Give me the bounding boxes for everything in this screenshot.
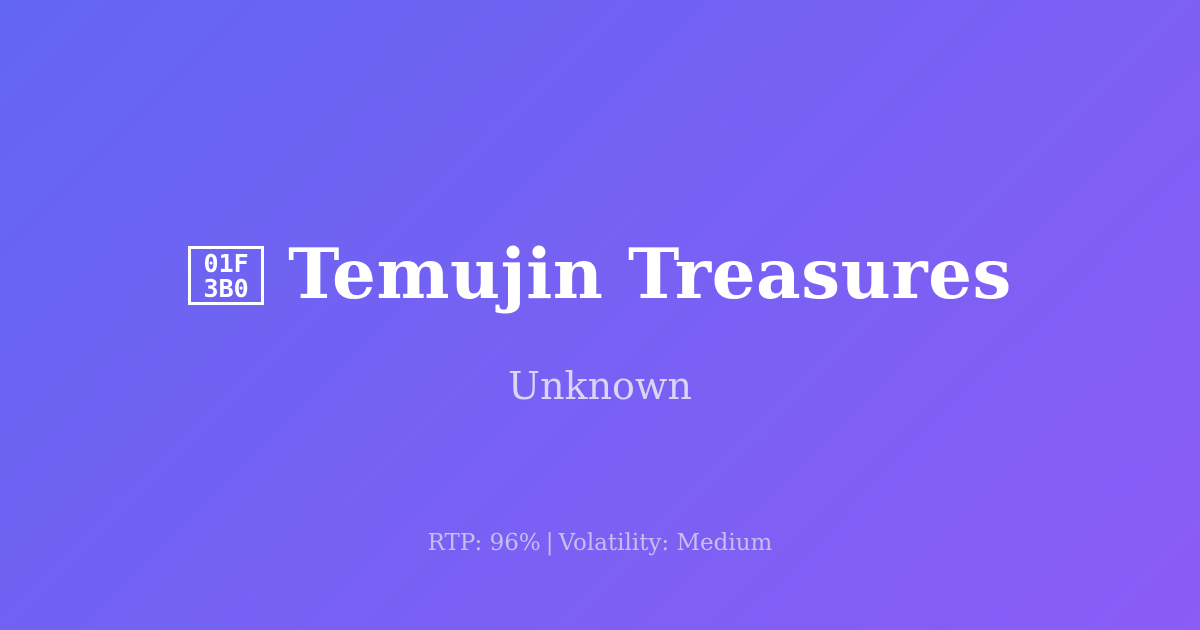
- slot-machine-icon: 01F 3B0: [188, 246, 264, 305]
- rtp-text: RTP: 96%: [428, 530, 541, 556]
- title-row: 01F 3B0 Temujin Treasures: [0, 236, 1200, 314]
- page-title: Temujin Treasures: [288, 236, 1012, 314]
- meta-separator: |: [541, 530, 559, 556]
- volatility-text: Volatility: Medium: [558, 530, 772, 556]
- game-og-card: 01F 3B0 Temujin Treasures Unknown RTP: 9…: [0, 0, 1200, 630]
- slot-machine-icon-hex-bottom: 3B0: [204, 276, 249, 301]
- slot-machine-icon-hex-top: 01F: [204, 251, 249, 276]
- card-subtitle: Unknown: [0, 362, 1200, 410]
- card-meta-line: RTP: 96%|Volatility: Medium: [0, 528, 1200, 558]
